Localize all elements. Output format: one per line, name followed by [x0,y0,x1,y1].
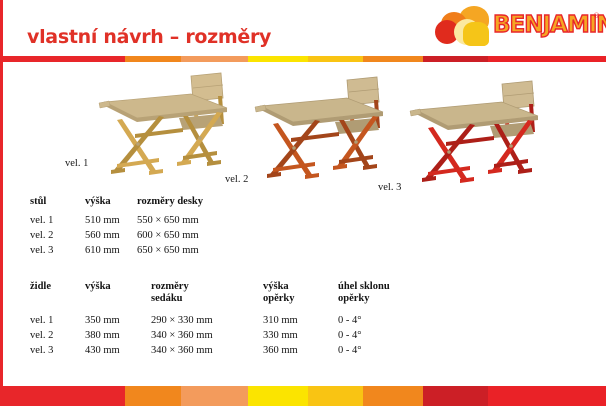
cell-height: 350 mm [85,313,151,328]
product-label-vel-3: vel. 3 [378,182,401,193]
desk-illustration-vel-3 [398,80,548,190]
product-label-vel-2: vel. 2 [225,174,248,185]
segment-bright-red [488,56,606,62]
cell-height: 610 mm [85,243,137,258]
segment-orange [125,386,181,406]
cell-height: 510 mm [85,213,137,228]
page-root: vlastní návrh – rozměry BENJAMIN ® vel. … [0,0,606,406]
cell-size: vel. 2 [30,328,85,343]
table-stul: stůl výška rozměry desky vel. 1510 mm550… [30,196,203,258]
segment-dark-red [423,386,488,406]
logo-blob-yellow [463,22,489,46]
segment-orange-2 [363,56,423,62]
table-zidle-body: vel. 1350 mm290 × 330 mm310 mm0 - 4°vel.… [30,313,390,358]
segment-orange [125,56,181,62]
col-header-stul: stůl [30,196,85,213]
table-header-row: stůl výška rozměry desky [30,196,203,213]
segment-dark-red [423,56,488,62]
segment-red [3,56,125,62]
cell-height: 560 mm [85,228,137,243]
cell-back-height: 360 mm [263,343,338,358]
table-stul-head: stůl výška rozměry desky [30,196,203,213]
product-label-vel-1: vel. 1 [65,158,88,169]
segment-yellow [248,56,308,62]
cell-height: 430 mm [85,343,151,358]
cell-seat-dimensions: 340 × 360 mm [151,343,263,358]
table-stul-body: vel. 1510 mm550 × 650 mmvel. 2560 mm600 … [30,213,203,258]
cell-back-height: 310 mm [263,313,338,328]
col-header-vyska: výška [85,281,151,313]
col-header-uhel-sklonu-operky: úhel sklonu opěrky [338,281,390,313]
cell-top-dimensions: 650 × 650 mm [137,243,203,258]
cell-size: vel. 2 [30,228,85,243]
pivot-bolt-rear [509,144,513,148]
segment-golden [308,386,363,406]
product-image-vel-2 [243,76,393,186]
segment-salmon [181,56,248,62]
cell-top-dimensions: 600 × 650 mm [137,228,203,243]
cell-back-angle: 0 - 4° [338,343,390,358]
table-row: vel. 1510 mm550 × 650 mm [30,213,203,228]
col-header-zidle: židle [30,281,85,313]
cell-top-dimensions: 550 × 650 mm [137,213,203,228]
product-image-vel-1 [87,72,237,182]
pivot-bolt-rear [354,140,358,144]
page-title: vlastní návrh – rozměry [27,26,271,48]
pivot-bolt-front [136,142,140,146]
logo-blobs-icon [435,6,495,46]
table-row: vel. 2380 mm340 × 360 mm330 mm0 - 4° [30,328,390,343]
col-header-vyska: výška [85,196,137,213]
side-brace [291,132,339,142]
side-brace [135,128,183,138]
segment-red [3,386,125,406]
pivot-bolt-front [292,146,296,150]
segment-orange-2 [363,386,423,406]
product-gallery: vel. 1 vel. 2 vel. 3 [3,68,606,190]
cell-size: vel. 1 [30,213,85,228]
product-image-vel-3 [398,80,548,190]
cell-size: vel. 3 [30,243,85,258]
table-row: vel. 3610 mm650 × 650 mm [30,243,203,258]
cell-height: 380 mm [85,328,151,343]
cell-size: vel. 3 [30,343,85,358]
table-row: vel. 3430 mm340 × 360 mm360 mm0 - 4° [30,343,390,358]
segment-salmon [181,386,248,406]
cell-back-angle: 0 - 4° [338,313,390,328]
col-header-vyska-operky: výška opěrky [263,281,338,313]
table-row: vel. 2560 mm600 × 650 mm [30,228,203,243]
side-brace [446,136,494,146]
table-header-row: židle výška rozměry sedáku výška opěrky … [30,281,390,313]
col-header-rozmery-desky: rozměry desky [137,196,203,213]
logo-registered-mark: ® [593,12,600,20]
logo-wordmark: BENJAMIN [493,12,606,38]
cell-seat-dimensions: 340 × 360 mm [151,328,263,343]
desk-illustration-vel-2 [243,76,393,186]
cell-back-angle: 0 - 4° [338,328,390,343]
cell-back-height: 330 mm [263,328,338,343]
table-zidle-head: židle výška rozměry sedáku výška opěrky … [30,281,390,313]
benjamin-logo: BENJAMIN ® [435,4,605,48]
table-row: vel. 1350 mm290 × 330 mm310 mm0 - 4° [30,313,390,328]
col-header-rozmery-sedaku: rozměry sedáku [151,281,263,313]
segment-bright-red [488,386,606,406]
cell-size: vel. 1 [30,313,85,328]
cell-seat-dimensions: 290 × 330 mm [151,313,263,328]
pivot-bolt-front [447,150,451,154]
table-zidle: židle výška rozměry sedáku výška opěrky … [30,281,390,358]
top-color-bar [3,56,606,62]
desk-illustration-vel-1 [87,72,237,182]
pivot-bolt-rear [198,136,202,140]
segment-yellow [248,386,308,406]
segment-golden [308,56,363,62]
page-header: vlastní návrh – rozměry BENJAMIN ® [3,0,606,56]
bottom-color-bar [3,386,606,406]
